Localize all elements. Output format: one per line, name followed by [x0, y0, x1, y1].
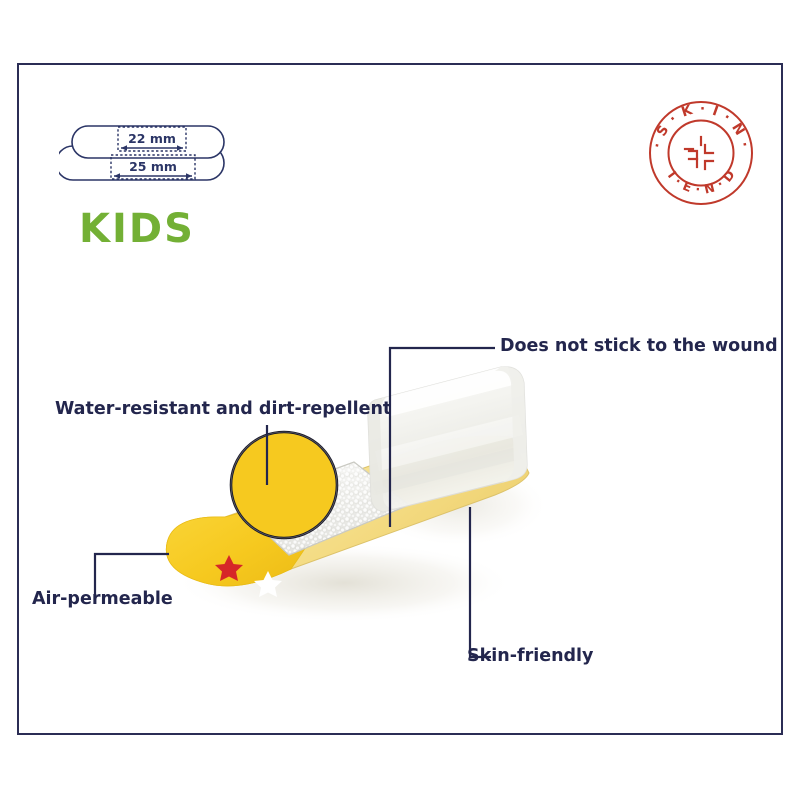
size-diagram-pad-label: 22 mm: [128, 131, 176, 146]
callout-skin-friendly: Skin-friendly: [467, 647, 593, 666]
size-diagram-strip-label: 25 mm: [129, 159, 177, 174]
product-feature-illustration: 22 mm 25 mm KIDS · S · K · I · N ·: [0, 0, 800, 800]
kids-brand-label: KIDS: [79, 209, 195, 249]
callout-air-permeable: Air-permeable: [32, 590, 173, 609]
stamp-plaster-glyph: [685, 137, 713, 169]
skin-friendly-stamp: · S · K · I · N · F · R · I · E · N · D …: [645, 97, 757, 209]
callout-does-not-stick-to-the-wound: Does not stick to the wound: [500, 337, 778, 356]
content-frame: 22 mm 25 mm KIDS · S · K · I · N ·: [17, 63, 783, 735]
plaster-size-diagram: 22 mm 25 mm: [59, 120, 249, 195]
fabric-zoom-circle: [231, 432, 337, 538]
callout-water-resistant-and-dirt-repellent: Water-resistant and dirt-repellent: [55, 400, 391, 419]
